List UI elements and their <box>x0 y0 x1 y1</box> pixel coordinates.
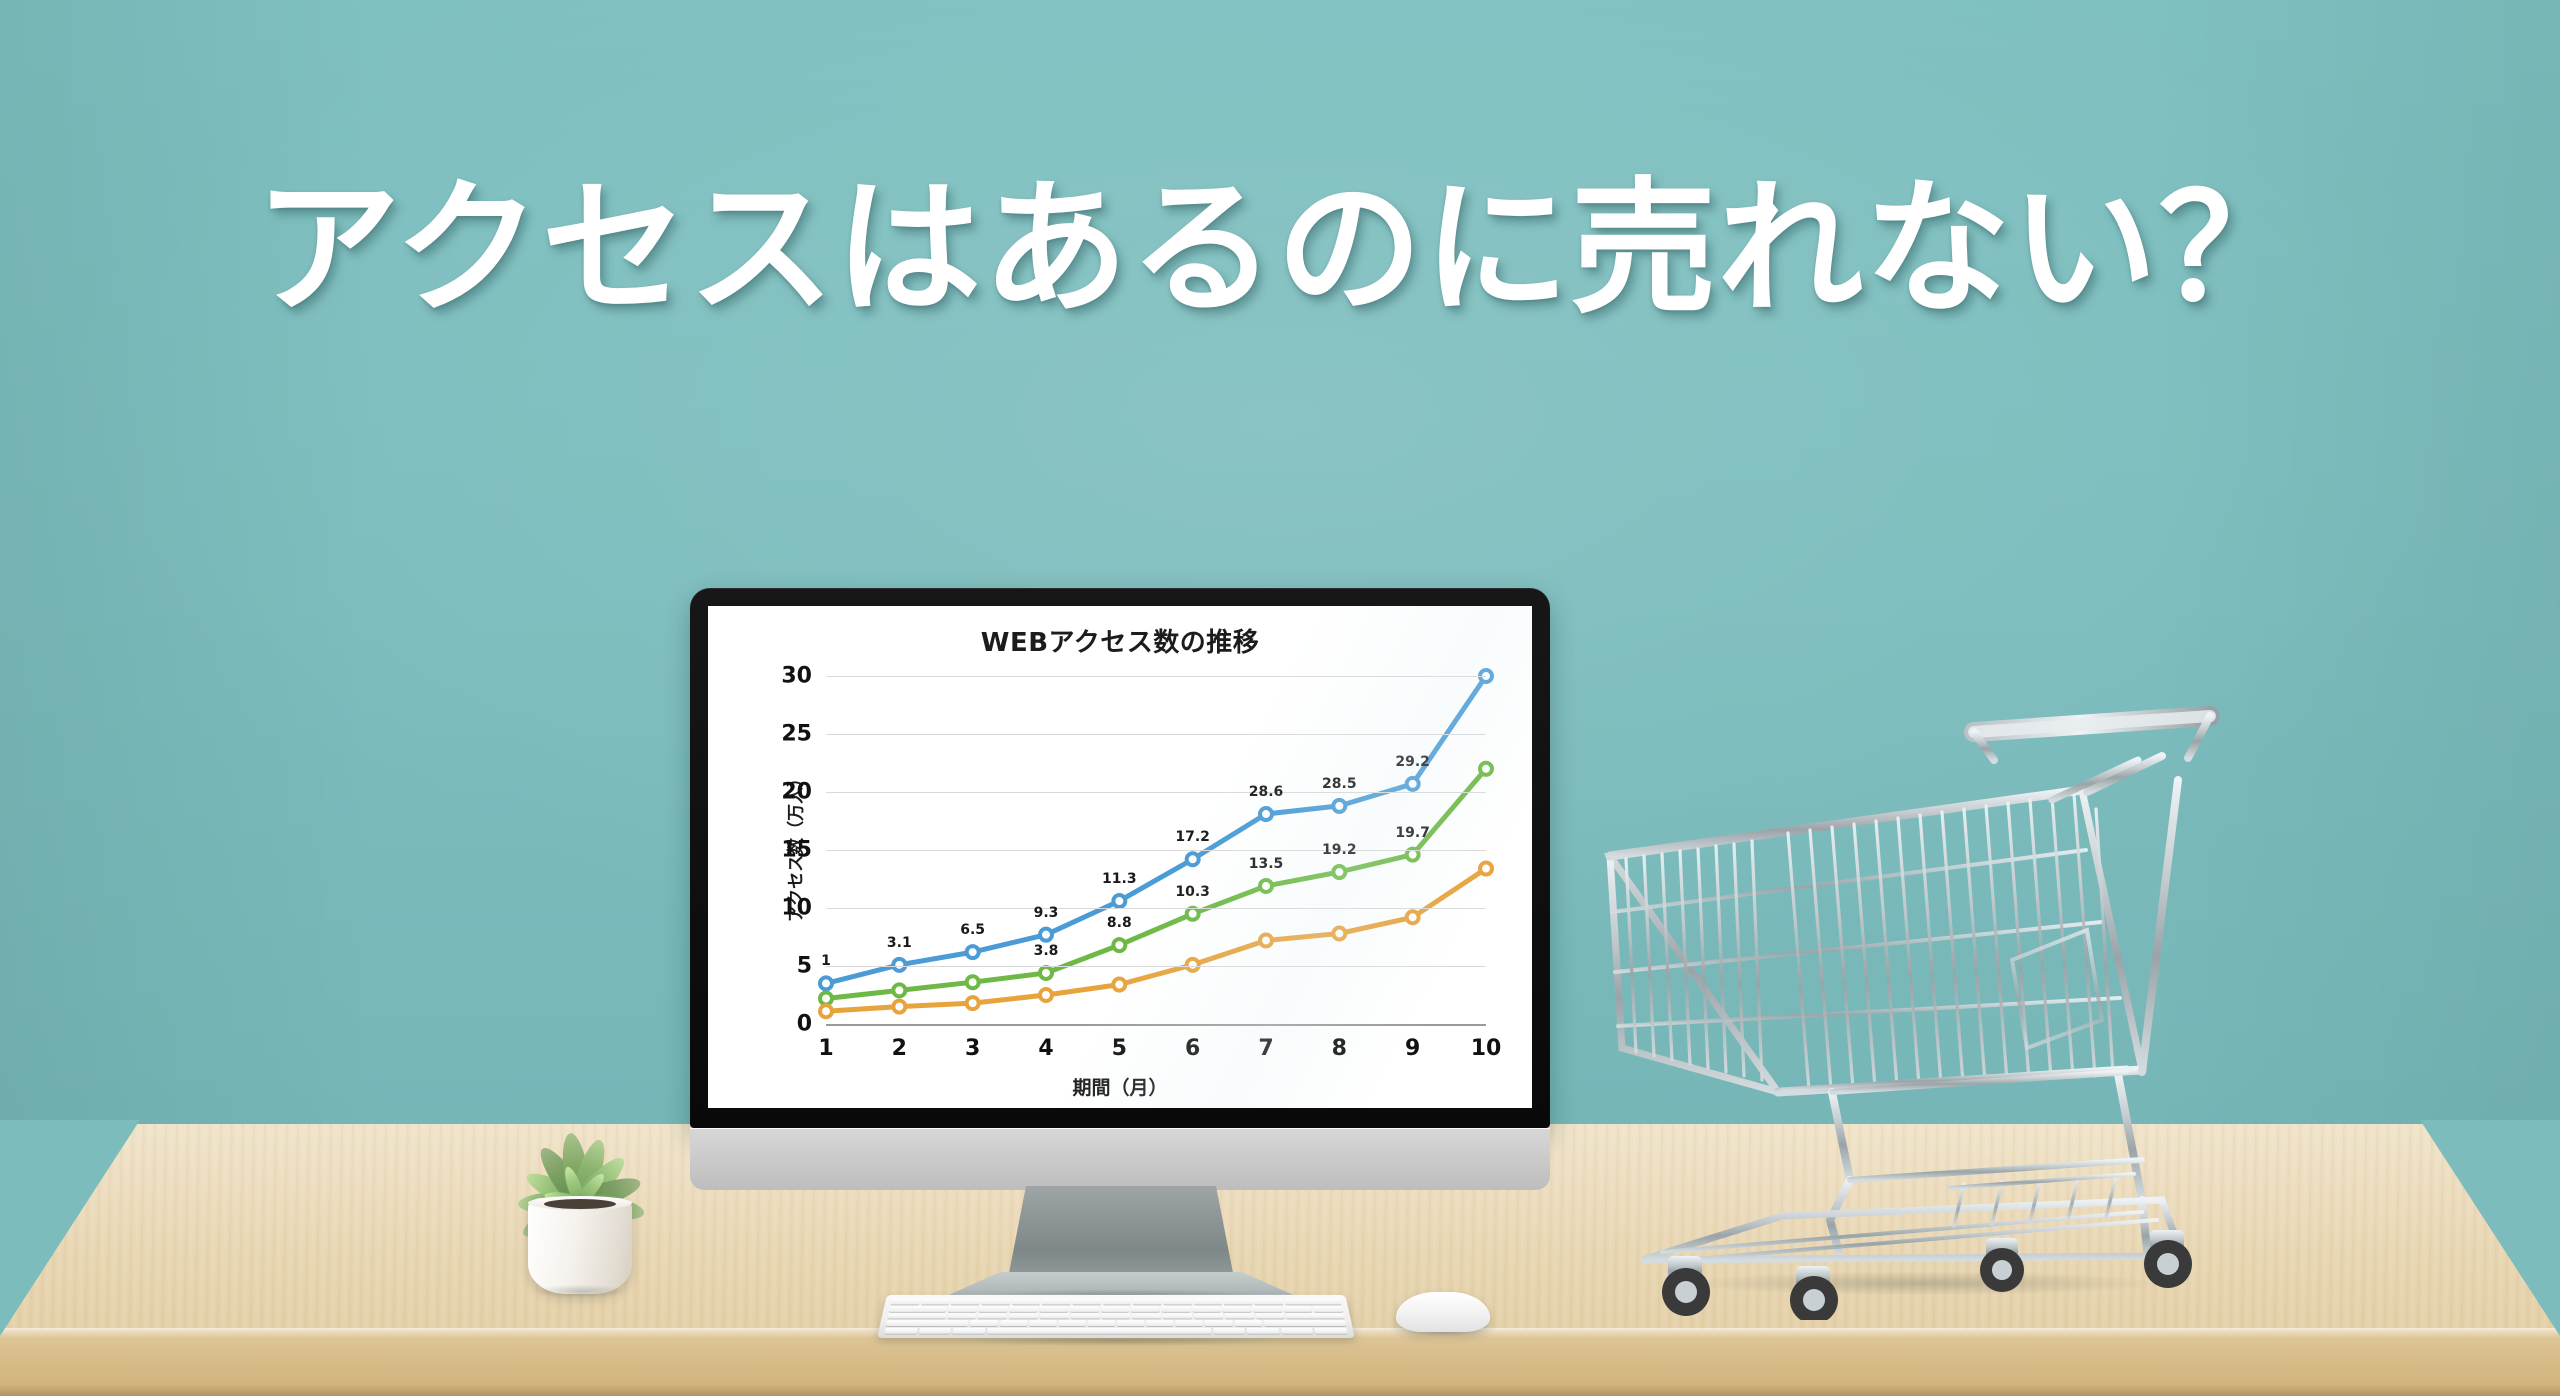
keyboard-key[interactable] <box>1255 1313 1285 1319</box>
chart-line-blue <box>826 676 1486 983</box>
plant-shadow <box>514 1284 646 1302</box>
monitor-chin <box>690 1128 1550 1190</box>
keyboard-key[interactable] <box>1103 1299 1131 1304</box>
keyboard-key[interactable] <box>951 1299 980 1304</box>
chart-data-label: 17.2 <box>1175 829 1210 845</box>
chart-x-tick: 2 <box>892 1036 907 1061</box>
chart-data-label: 9.3 <box>1034 905 1059 921</box>
chart-data-label: 19.2 <box>1322 842 1357 858</box>
keyboard-row <box>887 1313 1344 1319</box>
chart-gridline <box>826 676 1486 677</box>
keyboard-key[interactable] <box>889 1306 947 1312</box>
keyboard-key[interactable] <box>947 1313 977 1319</box>
keyboard-key[interactable] <box>1283 1306 1312 1312</box>
keyboard-key[interactable] <box>1102 1313 1131 1319</box>
chart-y-tick: 25 <box>781 722 812 747</box>
keyboard-key[interactable] <box>1286 1313 1345 1319</box>
mouse[interactable] <box>1396 1292 1490 1332</box>
chart-marker-green <box>967 976 979 988</box>
chart-gridline <box>826 850 1486 851</box>
keyboard-key[interactable] <box>1176 1320 1204 1326</box>
keyboard-key[interactable] <box>987 1328 1212 1334</box>
chart-data-label: 11.3 <box>1102 871 1137 887</box>
keyboard-key[interactable] <box>1224 1313 1253 1319</box>
chart-data-label: 19.7 <box>1395 825 1430 841</box>
keyboard-key[interactable] <box>1029 1320 1057 1326</box>
keyboard-key[interactable] <box>1012 1299 1041 1304</box>
keyboard-key[interactable] <box>1132 1313 1161 1319</box>
monitor-screen[interactable]: WEBアクセス数の推移 アクセス数（万人） 期間（月） 051015202530… <box>708 606 1532 1108</box>
chart-plot-area: 0510152025301234567891013.16.59.311.317.… <box>826 676 1486 1024</box>
keyboard-key[interactable] <box>921 1299 950 1304</box>
chart-marker-orange <box>1040 989 1052 1001</box>
keyboard-key[interactable] <box>1213 1328 1246 1334</box>
chart-marker-blue <box>820 977 832 989</box>
keyboard-row <box>891 1299 1342 1304</box>
desk-under-shadow <box>0 1384 2560 1396</box>
chart-marker-green <box>1480 763 1492 775</box>
chart-x-tick: 4 <box>1038 1036 1053 1061</box>
keyboard-key[interactable] <box>1162 1306 1191 1312</box>
chart-data-label: 6.5 <box>960 922 985 938</box>
chart-marker-orange <box>967 997 979 1009</box>
keyboard-key[interactable] <box>948 1306 977 1312</box>
keyboard-key[interactable] <box>1146 1320 1174 1326</box>
keyboard-key[interactable] <box>1224 1299 1253 1304</box>
chart-marker-blue <box>1040 929 1052 941</box>
keyboard-key[interactable] <box>1284 1299 1342 1304</box>
chart-data-label: 28.6 <box>1249 784 1284 800</box>
headline-text: アクセスはあるのに売れない？ <box>0 168 2560 332</box>
keyboard-key[interactable] <box>970 1320 998 1326</box>
chart-marker-blue <box>1113 895 1125 907</box>
chart-y-tick: 0 <box>797 1012 812 1037</box>
chart-gridline <box>826 1024 1486 1026</box>
keyboard-key[interactable] <box>1234 1320 1262 1326</box>
chart-y-tick: 20 <box>781 780 812 805</box>
keyboard-key[interactable] <box>1254 1299 1283 1304</box>
keyboard-key[interactable] <box>979 1306 1008 1312</box>
keyboard-key[interactable] <box>886 1320 969 1326</box>
keyboard-key[interactable] <box>1071 1313 1100 1319</box>
chart-marker-blue <box>1333 800 1345 812</box>
chart-gridline <box>826 734 1486 735</box>
keyboard-key[interactable] <box>1315 1328 1348 1334</box>
line-chart: WEBアクセス数の推移 アクセス数（万人） 期間（月） 051015202530… <box>708 606 1532 1108</box>
chart-y-tick: 30 <box>781 664 812 689</box>
keyboard-key[interactable] <box>1192 1306 1221 1312</box>
chart-data-label: 1 <box>821 953 831 969</box>
shopping-cart <box>1582 660 2262 1320</box>
keyboard-row <box>886 1320 1346 1326</box>
monitor-bezel: WEBアクセス数の推移 アクセス数（万人） 期間（月） 051015202530… <box>690 588 1550 1128</box>
succulent-plant <box>500 1098 660 1298</box>
chart-marker-orange <box>1333 928 1345 940</box>
chart-marker-blue <box>1260 808 1272 820</box>
chart-x-tick: 7 <box>1258 1036 1273 1061</box>
chart-x-tick: 5 <box>1112 1036 1127 1061</box>
keyboard-key[interactable] <box>1101 1306 1130 1312</box>
keyboard-key[interactable] <box>1058 1320 1086 1326</box>
chart-marker-orange <box>1260 934 1272 946</box>
keyboard-key[interactable] <box>1247 1328 1280 1334</box>
chart-data-label: 13.5 <box>1249 856 1284 872</box>
keyboard[interactable] <box>877 1295 1355 1338</box>
chart-data-label: 3.1 <box>887 935 912 951</box>
monitor-stand-neck <box>1008 1186 1234 1278</box>
keyboard-key[interactable] <box>1133 1299 1161 1304</box>
keyboard-key[interactable] <box>1253 1306 1282 1312</box>
keyboard-key[interactable] <box>1040 1313 1069 1319</box>
keyboard-key[interactable] <box>999 1320 1027 1326</box>
chart-marker-orange <box>1187 959 1199 971</box>
keyboard-key[interactable] <box>1194 1313 1223 1319</box>
keyboard-key[interactable] <box>1263 1320 1346 1326</box>
keyboard-key[interactable] <box>1088 1320 1115 1326</box>
chart-x-tick: 10 <box>1471 1036 1502 1061</box>
chart-marker-blue <box>1187 853 1199 865</box>
keyboard-key[interactable] <box>1117 1320 1144 1326</box>
chart-x-tick: 6 <box>1185 1036 1200 1061</box>
chart-marker-orange <box>1480 863 1492 875</box>
chart-data-label: 3.8 <box>1034 943 1059 959</box>
keyboard-key[interactable] <box>884 1328 917 1334</box>
desktop-monitor[interactable]: WEBアクセス数の推移 アクセス数（万人） 期間（月） 051015202530… <box>690 588 1560 1208</box>
keyboard-key[interactable] <box>982 1299 1011 1304</box>
chart-gridline <box>826 908 1486 909</box>
chart-marker-green <box>820 992 832 1004</box>
keyboard-key[interactable] <box>1009 1313 1038 1319</box>
chart-gridline <box>826 792 1486 793</box>
keyboard-key[interactable] <box>1281 1328 1314 1334</box>
chart-marker-blue <box>893 959 905 971</box>
chart-marker-orange <box>1113 979 1125 991</box>
chart-marker-green <box>1333 866 1345 878</box>
plant-soil <box>544 1199 616 1209</box>
chart-line-green <box>826 769 1486 999</box>
chart-y-tick: 5 <box>797 954 812 979</box>
shopping-cart-svg <box>1582 660 2262 1320</box>
chart-y-tick: 10 <box>781 896 812 921</box>
chart-data-label: 8.8 <box>1107 915 1132 931</box>
keyboard-key[interactable] <box>1163 1299 1192 1304</box>
keyboard-key[interactable] <box>887 1313 946 1319</box>
chart-data-label: 10.3 <box>1175 884 1210 900</box>
chart-marker-blue <box>1407 778 1419 790</box>
chart-marker-green <box>1260 880 1272 892</box>
keyboard-key[interactable] <box>1070 1306 1099 1312</box>
chart-x-tick: 9 <box>1405 1036 1420 1061</box>
keyboard-key[interactable] <box>1073 1299 1101 1304</box>
chart-x-axis-label: 期間（月） <box>708 1073 1532 1100</box>
keyboard-key[interactable] <box>891 1299 920 1304</box>
keyboard-row <box>884 1328 1348 1334</box>
chart-marker-blue <box>967 946 979 958</box>
chart-data-label: 29.2 <box>1395 754 1430 770</box>
keyboard-key[interactable] <box>1042 1299 1071 1304</box>
chart-y-tick: 15 <box>781 838 812 863</box>
chart-x-tick: 8 <box>1332 1036 1347 1061</box>
keyboard-key[interactable] <box>1163 1313 1192 1319</box>
plant-pot <box>528 1198 632 1294</box>
keyboard-key[interactable] <box>952 1328 985 1334</box>
chart-data-label: 28.5 <box>1322 776 1357 792</box>
keyboard-key[interactable] <box>1193 1299 1222 1304</box>
keyboard-key[interactable] <box>1222 1306 1251 1312</box>
chart-marker-green <box>1040 967 1052 979</box>
chart-marker-orange <box>1407 911 1419 923</box>
chart-marker-green <box>1187 908 1199 920</box>
chart-gridline <box>826 966 1486 967</box>
keyboard-row <box>889 1306 1343 1312</box>
chart-marker-orange <box>893 1001 905 1013</box>
keyboard-key[interactable] <box>918 1328 951 1334</box>
keyboard-key[interactable] <box>1205 1320 1233 1326</box>
chart-x-tick: 1 <box>818 1036 833 1061</box>
chart-title: WEBアクセス数の推移 <box>708 622 1532 659</box>
keyboard-key[interactable] <box>1313 1306 1343 1312</box>
keyboard-key[interactable] <box>1040 1306 1069 1312</box>
chart-marker-green <box>893 984 905 996</box>
chart-marker-green <box>1113 939 1125 951</box>
keyboard-key[interactable] <box>1131 1306 1160 1312</box>
keyboard-key[interactable] <box>978 1313 1007 1319</box>
keyboard-key[interactable] <box>1009 1306 1038 1312</box>
chart-x-tick: 3 <box>965 1036 980 1061</box>
chart-marker-orange <box>820 1005 832 1017</box>
plant-leaves <box>500 1124 660 1204</box>
